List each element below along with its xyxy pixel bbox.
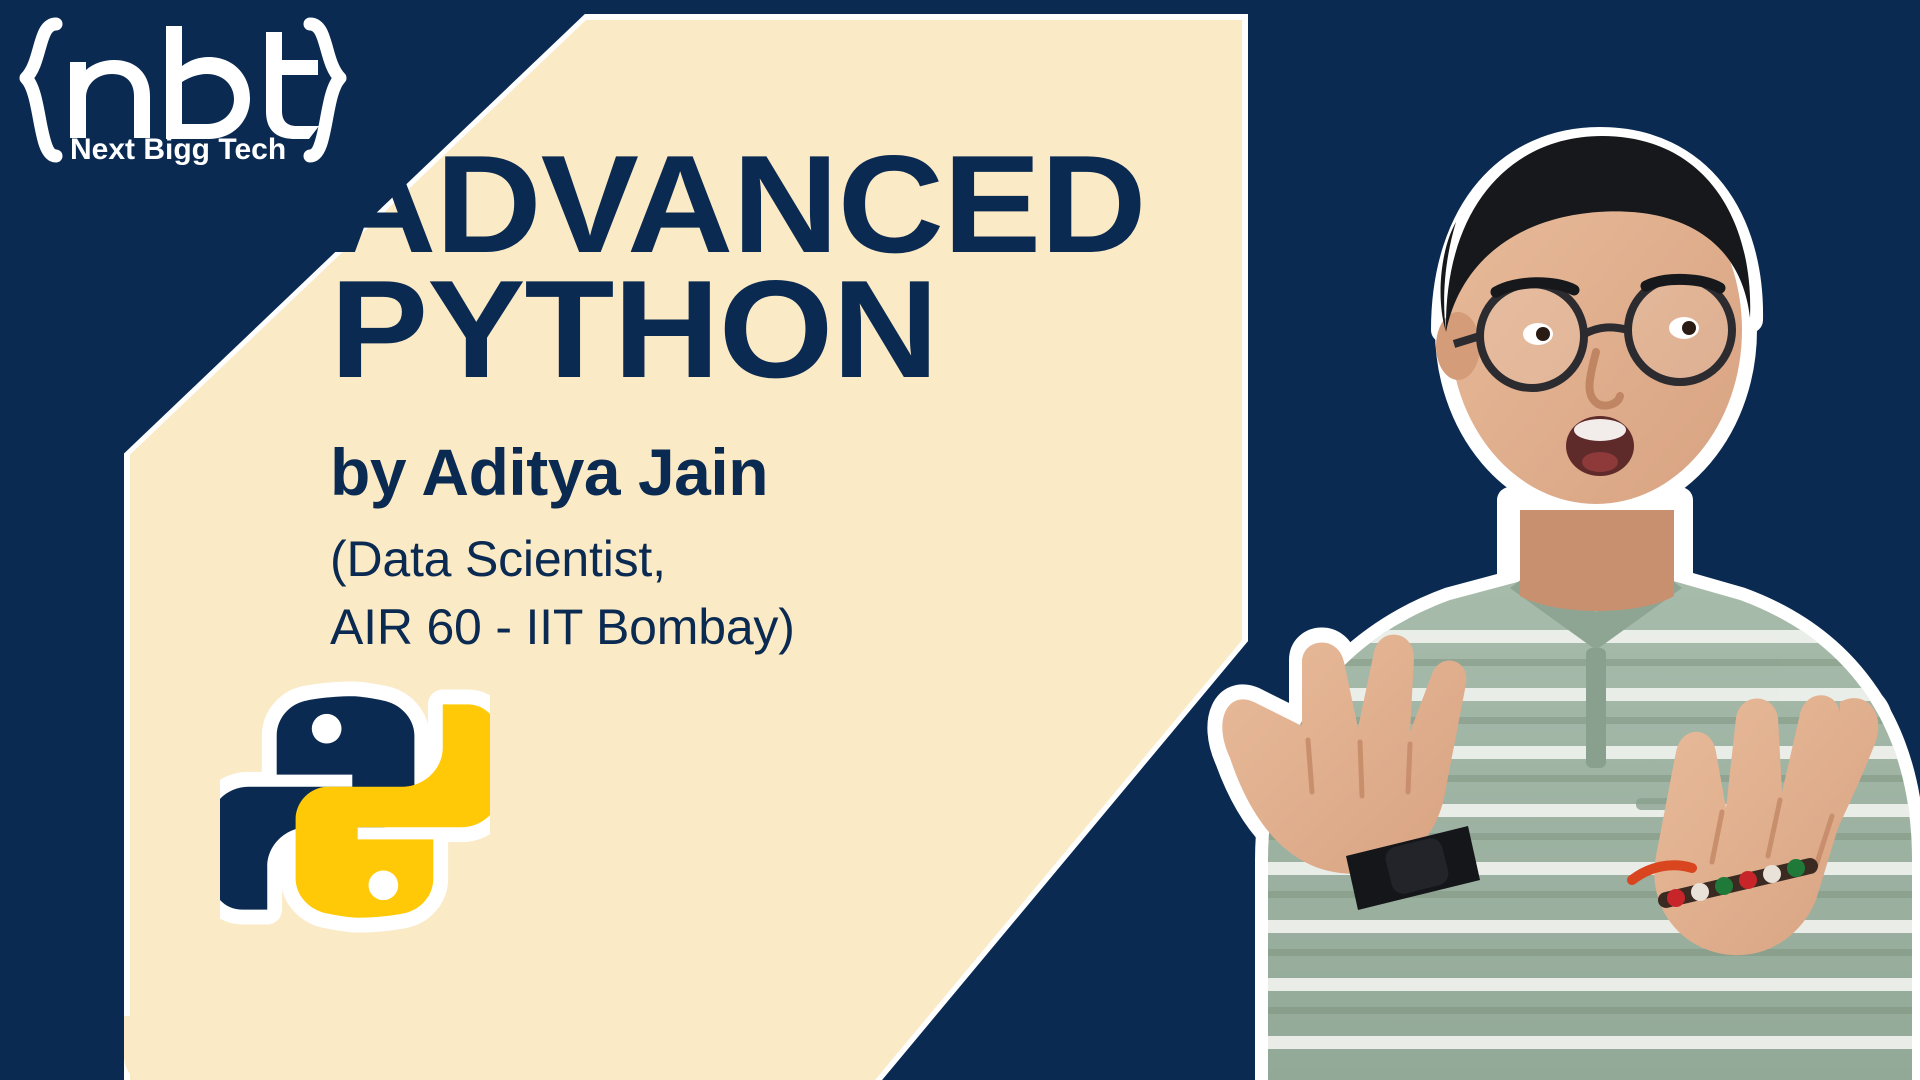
course-title-line-2: PYTHON: [330, 265, 1146, 396]
nbt-logo: Next Bigg Tech: [8, 6, 368, 176]
presenter-tongue: [1582, 452, 1618, 472]
python-logo-upper-eye: [312, 714, 342, 744]
presenter-placket: [1586, 648, 1606, 768]
instructor-credential-line-2: AIR 60 - IIT Bombay): [330, 595, 1099, 659]
instructor-credential-line-1: (Data Scientist,: [330, 527, 1099, 591]
instructor-byline: by Aditya Jain: [330, 439, 1099, 505]
thumbnail-canvas: Next Bigg Tech ADVANCED PYTHON by Aditya…: [0, 0, 1920, 1080]
presenter-neck: [1520, 510, 1674, 611]
presenter-teeth: [1574, 419, 1626, 441]
nbt-braces-logo-icon: Next Bigg Tech: [8, 6, 368, 176]
logo-wordmark: Next Bigg Tech: [70, 133, 286, 166]
presenter-photo: [1040, 0, 1920, 1080]
python-logo-lower-eye: [369, 870, 399, 900]
python-logo: [220, 672, 490, 942]
python-logo-icon: [220, 672, 490, 942]
content-panel-corner-outline: [124, 1016, 164, 1080]
presenter-figure: [1040, 0, 1920, 1080]
title-text-block: ADVANCED PYTHON by Aditya Jain (Data Sci…: [330, 140, 1099, 659]
content-panel-corner-fill: [124, 1016, 164, 1080]
